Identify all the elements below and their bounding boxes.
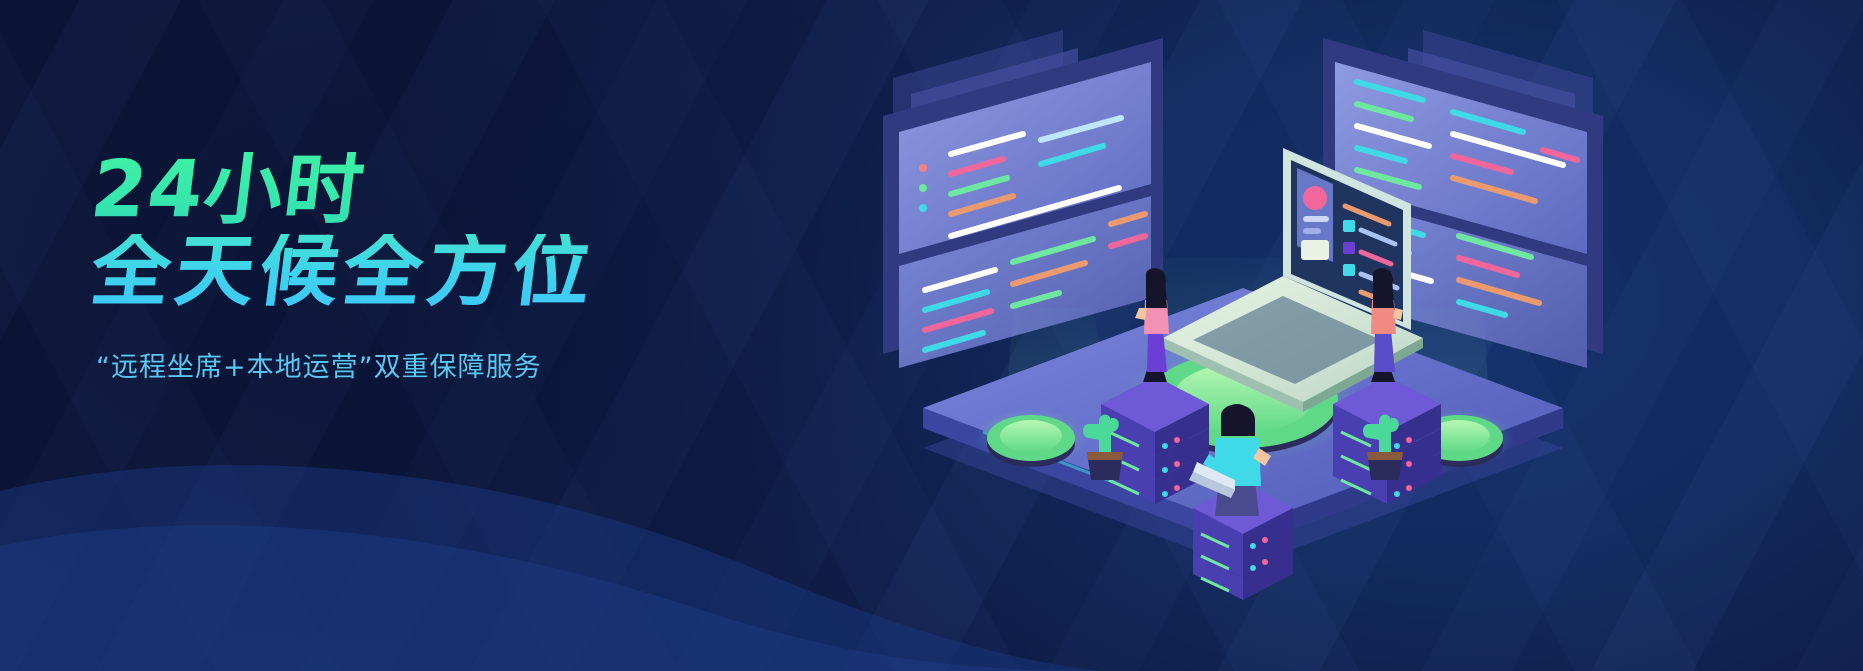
banner-copy: 24小时 全天候全方位 “远程坐席+本地运营”双重保障服务 (92, 152, 852, 384)
banner-subtitle: “远程坐席+本地运营”双重保障服务 (96, 345, 852, 384)
hero-banner: 24小时 全天候全方位 “远程坐席+本地运营”双重保障服务 (0, 0, 1863, 671)
page-title: 24小时 全天候全方位 (92, 152, 852, 311)
isometric-datacenter-illustration (863, 8, 1623, 668)
glow-pad-left (975, 409, 1087, 467)
headline-line-1: 24小时 (87, 152, 856, 228)
headline-line-2: 全天候全方位 (87, 234, 856, 310)
